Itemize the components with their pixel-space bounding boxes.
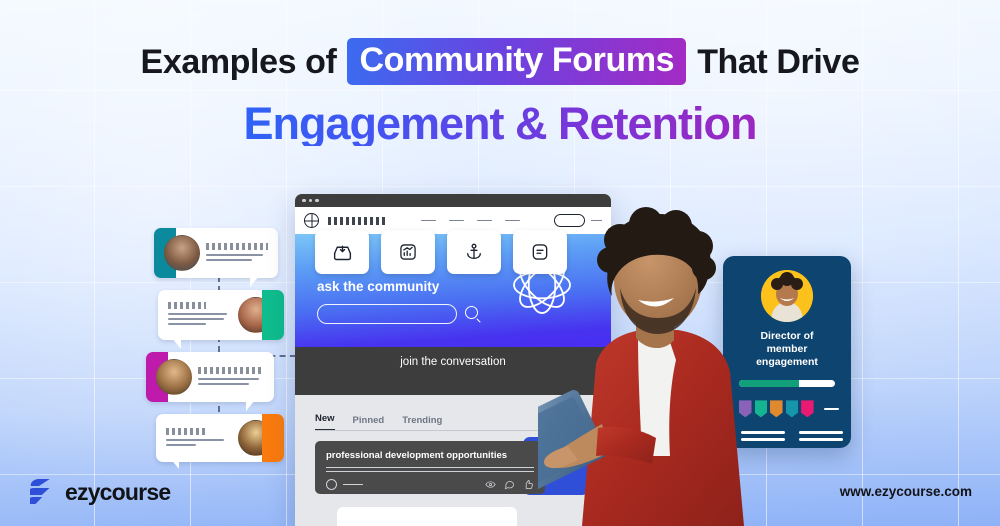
- post-actions[interactable]: [485, 479, 534, 490]
- tab-new[interactable]: New: [315, 413, 335, 431]
- bubble-tail: [172, 338, 181, 349]
- post-timestamp-placeholder: [343, 484, 363, 485]
- eye-icon[interactable]: [485, 479, 496, 490]
- tile-inbox[interactable]: [315, 230, 369, 274]
- bubble-text-lines: [158, 302, 232, 328]
- forum-tabs: New Pinned Trending: [315, 413, 442, 431]
- badge: [786, 400, 799, 417]
- inbox-tray-icon: [332, 242, 353, 263]
- tile-stats[interactable]: [381, 230, 435, 274]
- speech-bubble-group: [146, 228, 294, 460]
- bubble-line: [198, 378, 259, 380]
- stat-line: [799, 431, 843, 434]
- website-url: www.ezycourse.com: [840, 484, 972, 499]
- bubble-line: [168, 313, 227, 315]
- bubble-squiggle: [206, 243, 268, 250]
- bubble-squiggle: [168, 302, 206, 309]
- bubble-accent-bar: [262, 290, 284, 340]
- nav-link[interactable]: [449, 220, 464, 222]
- headline-line-2: Engagement & Retention: [243, 101, 756, 146]
- brand-logo[interactable]: ezycourse: [30, 478, 170, 506]
- speech-bubble: [156, 414, 284, 462]
- globe-icon: [304, 213, 319, 228]
- nav-link[interactable]: [477, 220, 492, 222]
- bubble-line: [168, 323, 206, 325]
- poster-canvas: Examples of Community Forums That Drive …: [0, 0, 1000, 526]
- bubble-line: [166, 444, 196, 446]
- bubble-tail: [246, 400, 255, 411]
- comment-icon[interactable]: [504, 479, 515, 490]
- brand-wordmark: ezycourse: [65, 479, 170, 506]
- stat-line: [799, 438, 843, 441]
- speech-bubble: [146, 352, 274, 402]
- avatar: [761, 270, 813, 322]
- bubble-line: [206, 259, 252, 261]
- nav-link[interactable]: [505, 220, 520, 222]
- brand-wordmark-placeholder: [328, 217, 388, 225]
- headline-block: Examples of Community Forums That Drive …: [0, 38, 1000, 146]
- bubble-line: [198, 383, 249, 385]
- nav-link[interactable]: [421, 220, 436, 222]
- stat-column: [799, 431, 843, 440]
- post-line: [326, 467, 534, 468]
- anchor-icon: [464, 242, 484, 262]
- headline-highlight: Community Forums: [347, 38, 686, 85]
- window-dot[interactable]: [309, 199, 313, 203]
- bubble-squiggle: [198, 367, 264, 374]
- bubble-line: [206, 254, 263, 256]
- speech-bubble: [158, 290, 284, 340]
- nav-links[interactable]: [421, 220, 520, 222]
- post-line: [326, 471, 534, 472]
- post-meta: [326, 479, 534, 490]
- bubble-tail: [170, 458, 179, 469]
- badge: [770, 400, 783, 417]
- stats-box-icon: [398, 242, 418, 262]
- tile-anchor[interactable]: [447, 230, 501, 274]
- headline-line-1: Examples of Community Forums That Drive: [0, 38, 1000, 85]
- magnifier-icon[interactable]: [465, 306, 478, 319]
- window-dot[interactable]: [315, 199, 319, 203]
- badge-count-placeholder: [824, 408, 839, 410]
- search-input[interactable]: [317, 304, 457, 324]
- avatar: [156, 359, 192, 395]
- bubble-text-lines: [198, 367, 274, 388]
- person-avatar-illustration: [761, 270, 813, 322]
- ezycourse-mark-icon: [30, 478, 56, 506]
- speech-bubble: [154, 228, 278, 278]
- bubble-line: [168, 318, 224, 320]
- bubble-tail: [250, 276, 259, 287]
- tab-trending[interactable]: Trending: [402, 415, 442, 431]
- bubble-accent-bar: [262, 414, 284, 462]
- window-dot[interactable]: [302, 199, 306, 203]
- hero-title: ask the community: [317, 279, 439, 294]
- badge: [801, 400, 814, 417]
- post-card-secondary[interactable]: [337, 507, 517, 526]
- tab-pinned[interactable]: Pinned: [353, 415, 385, 431]
- person-photo: [538, 196, 768, 526]
- bubble-text-lines: [156, 428, 232, 449]
- bubble-squiggle: [166, 428, 207, 435]
- bubble-line: [166, 439, 224, 441]
- quick-action-tiles: [315, 230, 567, 274]
- headline-prefix: Examples of: [141, 45, 337, 79]
- thumbs-up-icon[interactable]: [523, 479, 534, 490]
- clock-icon: [326, 479, 337, 490]
- bubble-text-lines: [206, 243, 278, 264]
- headline-suffix: That Drive: [697, 45, 859, 79]
- post-card[interactable]: professional development opportunities: [315, 441, 545, 494]
- tab-divider: [315, 430, 555, 431]
- post-title: professional development opportunities: [326, 450, 534, 461]
- avatar: [164, 235, 200, 271]
